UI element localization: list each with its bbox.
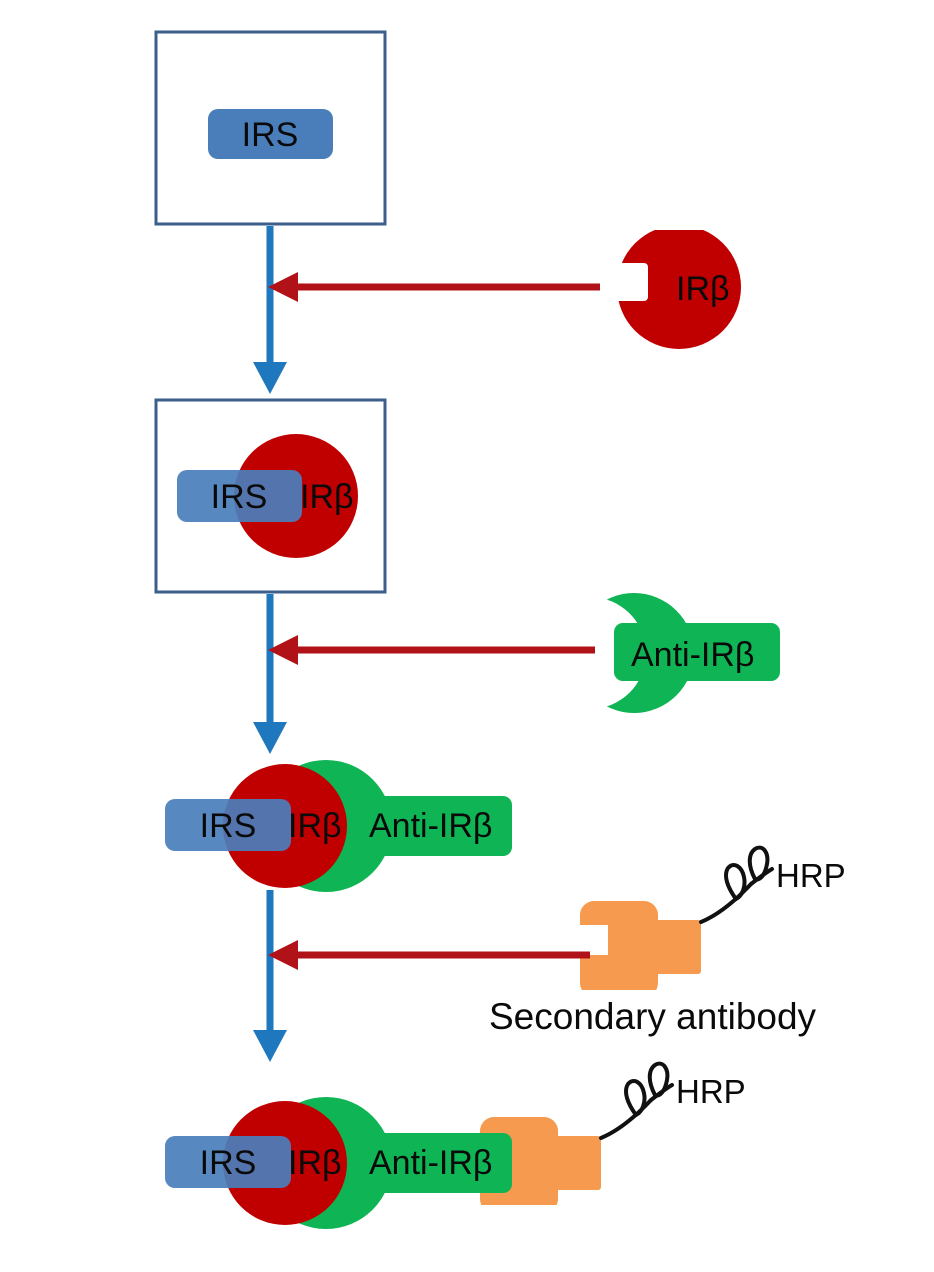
hrp-label-reagent: HRP [776,857,846,894]
irs-label-1: IRS [242,116,299,154]
secondary-antibody-block [580,901,658,997]
irs-label-3: IRS [200,807,257,845]
diagram-canvas: IRS IRβ IRS IRβ [0,0,934,1272]
hrp-sprig-icon-4 [601,1064,672,1138]
reagent-secondary-antibody-group: HRP Secondary antibody [489,848,846,1037]
anti-ir-beta-label-4: Anti-IRβ [369,1144,492,1182]
step-2-group: IRS IRβ [156,400,385,592]
ir-beta-label-3: IRβ [288,807,342,845]
anti-ir-beta-reagent-label: Anti-IRβ [631,636,754,674]
hrp-sprig-icon [701,848,772,922]
reagent-ir-beta-group: IRβ [617,225,741,349]
reagent-arrow-3 [268,940,590,970]
step-1-group: IRS [156,32,385,224]
flow-arrow-2 [253,594,287,754]
irs-label-4: IRS [200,1144,257,1182]
ir-beta-label-4: IRβ [288,1144,342,1182]
flow-arrow-3 [253,890,287,1062]
schematic-svg: IRS IRβ IRS IRβ [0,0,934,1272]
irs-label-2: IRS [211,478,268,516]
step-3-group: IRS IRβ Anti-IRβ [165,760,512,892]
secondary-antibody-caption: Secondary antibody [489,996,817,1037]
hrp-label-4: HRP [676,1073,746,1110]
ir-beta-reagent-label: IRβ [676,270,730,308]
ir-beta-label-2: IRβ [300,478,354,516]
step-4-group: HRP IRS IRβ Anti-IRβ [165,1064,746,1229]
reagent-arrow-1 [268,272,600,302]
anti-ir-beta-label-3: Anti-IRβ [369,807,492,845]
reagent-anti-ir-beta-group: Anti-IRβ [574,593,780,713]
reagent-arrow-2 [268,635,595,665]
flow-arrow-1 [253,226,287,394]
